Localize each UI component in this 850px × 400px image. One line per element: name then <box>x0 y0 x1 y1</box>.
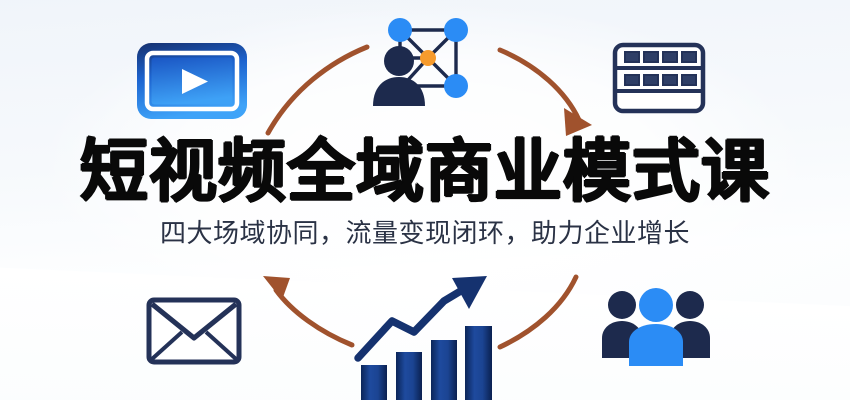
chart-bar <box>465 326 492 400</box>
banner-root: 短视频全域商业模式课 四大场域协同，流量变现闭环，助力企业增长 <box>0 0 850 400</box>
network-node <box>444 18 468 42</box>
server-rack-icon <box>612 42 706 114</box>
chart-bar <box>396 352 422 400</box>
network-node <box>444 74 468 98</box>
envelope-icon <box>146 296 242 366</box>
headline-block: 短视频全域商业模式课 四大场域协同，流量变现闭环，助力企业增长 <box>0 138 850 246</box>
team-users-icon <box>600 286 712 368</box>
growth-bar-chart-icon <box>352 276 500 400</box>
chart-bar <box>431 340 457 400</box>
network-hub-node <box>420 50 436 66</box>
page-subtitle: 四大场域协同，流量变现闭环，助力企业增长 <box>0 220 850 246</box>
network-node <box>388 18 412 42</box>
page-title: 短视频全域商业模式课 <box>0 138 850 206</box>
person-silhouette <box>373 46 425 106</box>
chart-bar <box>361 365 387 400</box>
video-play-icon <box>136 42 248 120</box>
user-network-icon <box>368 8 480 112</box>
